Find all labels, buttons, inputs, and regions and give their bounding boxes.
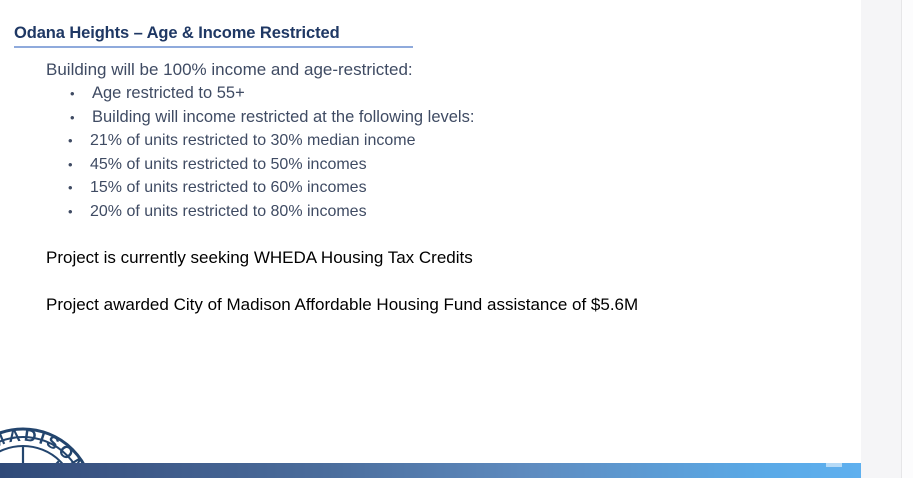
list-item-label: 20% of units restricted to 80% incomes: [90, 200, 367, 224]
vertical-scrollbar-track[interactable]: [901, 0, 913, 478]
list-item-label: Building will income restricted at the f…: [92, 106, 474, 130]
slide-canvas: Odana Heights – Age & Income Restricted …: [0, 0, 861, 478]
bullet-list-level-1: • Age restricted to 55+ • Building will …: [70, 82, 846, 129]
page-title: Odana Heights – Age & Income Restricted: [14, 24, 414, 43]
lead-statement: Building will be 100% income and age-res…: [46, 57, 846, 82]
list-item: • Building will income restricted at the…: [70, 106, 846, 130]
paragraph-tax-credits: Project is currently seeking WHEDA Housi…: [46, 245, 473, 270]
bullet-list-level-2: • 21% of units restricted to 30% median …: [68, 129, 846, 223]
list-item-label: 21% of units restricted to 30% median in…: [90, 129, 416, 153]
bullet-dot-icon: •: [68, 200, 90, 224]
paragraph-housing-fund: Project awarded City of Madison Affordab…: [46, 292, 638, 317]
list-item: • 45% of units restricted to 50% incomes: [68, 153, 846, 177]
bullet-dot-icon: •: [70, 82, 92, 106]
footer-bar-highlight: [826, 463, 842, 467]
list-item: • 21% of units restricted to 30% median …: [68, 129, 846, 153]
presentation-viewer: Odana Heights – Age & Income Restricted …: [0, 0, 913, 478]
slide-footer-bar: [0, 463, 861, 478]
slide-title-block: Odana Heights – Age & Income Restricted: [14, 24, 414, 48]
title-underline-rule: [14, 46, 413, 48]
bullet-dot-icon: •: [68, 153, 90, 177]
list-item-label: 45% of units restricted to 50% incomes: [90, 153, 367, 177]
list-item: • 20% of units restricted to 80% incomes: [68, 200, 846, 224]
slide-body: Building will be 100% income and age-res…: [46, 57, 846, 223]
list-item-label: Age restricted to 55+: [92, 82, 245, 106]
list-item: • 15% of units restricted to 60% incomes: [68, 176, 846, 200]
viewer-side-panel: [861, 0, 901, 478]
list-item: • Age restricted to 55+: [70, 82, 846, 106]
bullet-dot-icon: •: [68, 129, 90, 153]
list-item-label: 15% of units restricted to 60% incomes: [90, 176, 367, 200]
bullet-dot-icon: •: [68, 176, 90, 200]
bullet-dot-icon: •: [70, 106, 92, 130]
